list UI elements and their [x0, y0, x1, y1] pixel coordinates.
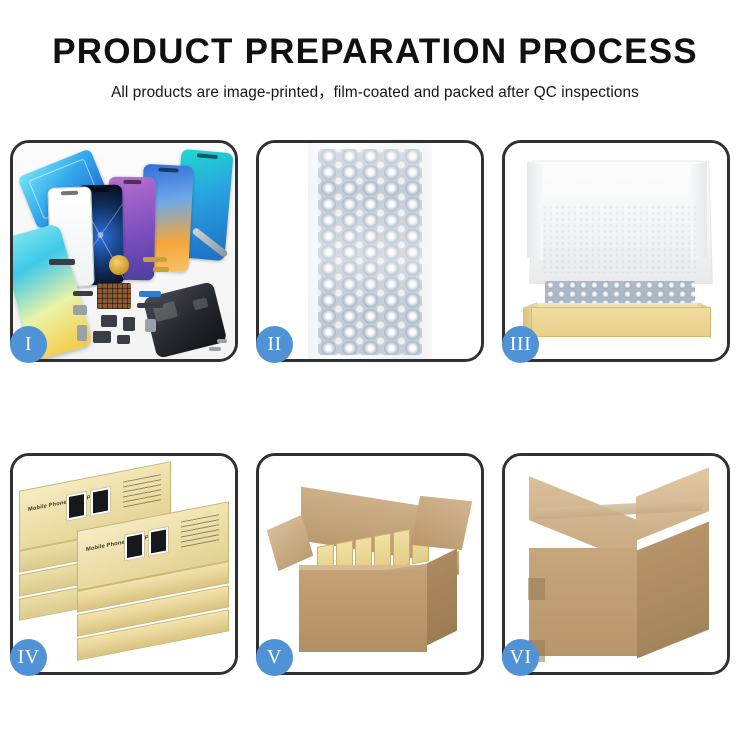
step-3-illustration — [505, 143, 727, 359]
small-part — [49, 259, 75, 265]
small-part — [117, 335, 130, 344]
carton-front-face — [529, 548, 637, 656]
process-step-grid: I II III — [10, 140, 740, 675]
process-step-panel-1[interactable]: I — [10, 140, 238, 362]
phone-image-on-box — [90, 486, 111, 517]
small-part — [153, 267, 169, 272]
yellow-box — [393, 529, 410, 568]
screw-part — [217, 339, 227, 343]
plastic-sheen-overlay — [308, 143, 432, 359]
process-step-panel-6[interactable]: VI — [502, 453, 730, 675]
step-5-illustration — [259, 456, 481, 672]
step-badge-1: I — [10, 326, 47, 363]
step-4-illustration: Mobile Phone Spare Parts Mobile Phone Sp… — [13, 456, 235, 672]
small-part — [123, 317, 135, 331]
carton-front-face — [299, 570, 427, 652]
camera-module — [193, 297, 209, 310]
small-part — [101, 315, 117, 327]
box-spec-lines — [181, 514, 219, 549]
phone-image-on-box — [148, 526, 169, 557]
step-1-illustration — [13, 143, 235, 359]
phone-notch-icon — [197, 153, 218, 159]
phone-notch-icon — [158, 168, 178, 173]
small-part — [137, 303, 163, 308]
page-header: PRODUCT PREPARATION PROCESS All products… — [0, 0, 750, 102]
small-part — [93, 331, 111, 343]
box-tray-front — [531, 307, 711, 337]
phone-notch-icon — [123, 180, 142, 184]
step-2-illustration — [259, 143, 481, 359]
screw-part — [209, 347, 221, 351]
small-part — [77, 325, 87, 341]
carton-seam-tab — [528, 578, 545, 600]
process-step-panel-3[interactable]: III — [502, 140, 730, 362]
lid-flap-left — [527, 161, 543, 260]
page-title: PRODUCT PREPARATION PROCESS — [0, 34, 750, 71]
step-6-illustration — [505, 456, 727, 672]
page-subtitle: All products are image-printed，film-coat… — [0, 80, 750, 102]
step-badge-6: VI — [502, 639, 539, 676]
retail-box-stack: Mobile Phone Spare Parts Mobile Phone Sp… — [19, 470, 235, 670]
carton-side-face — [637, 521, 709, 658]
step-badge-2: II — [256, 326, 293, 363]
phone-image-on-box — [66, 491, 87, 522]
carton-side-right — [427, 549, 457, 646]
process-step-panel-2[interactable]: II — [256, 140, 484, 362]
gold-coil-part — [109, 255, 129, 275]
small-part — [143, 257, 167, 262]
small-part — [73, 291, 93, 296]
phone-notch-icon — [91, 188, 109, 192]
foam-padding-sheet — [543, 205, 697, 273]
small-part — [73, 305, 87, 315]
small-part — [145, 319, 156, 332]
phone-image-on-box — [124, 531, 145, 562]
chip-grid-part — [97, 283, 131, 309]
process-step-panel-4[interactable]: Mobile Phone Spare Parts Mobile Phone Sp… — [10, 453, 238, 675]
process-step-panel-5[interactable]: V — [256, 453, 484, 675]
box-spec-lines — [123, 474, 161, 509]
small-part — [139, 291, 161, 297]
step-badge-5: V — [256, 639, 293, 676]
step-badge-4: IV — [10, 639, 47, 676]
step-badge-3: III — [502, 326, 539, 363]
carton-flap-right — [410, 496, 472, 550]
phone-notch-icon — [61, 191, 78, 196]
